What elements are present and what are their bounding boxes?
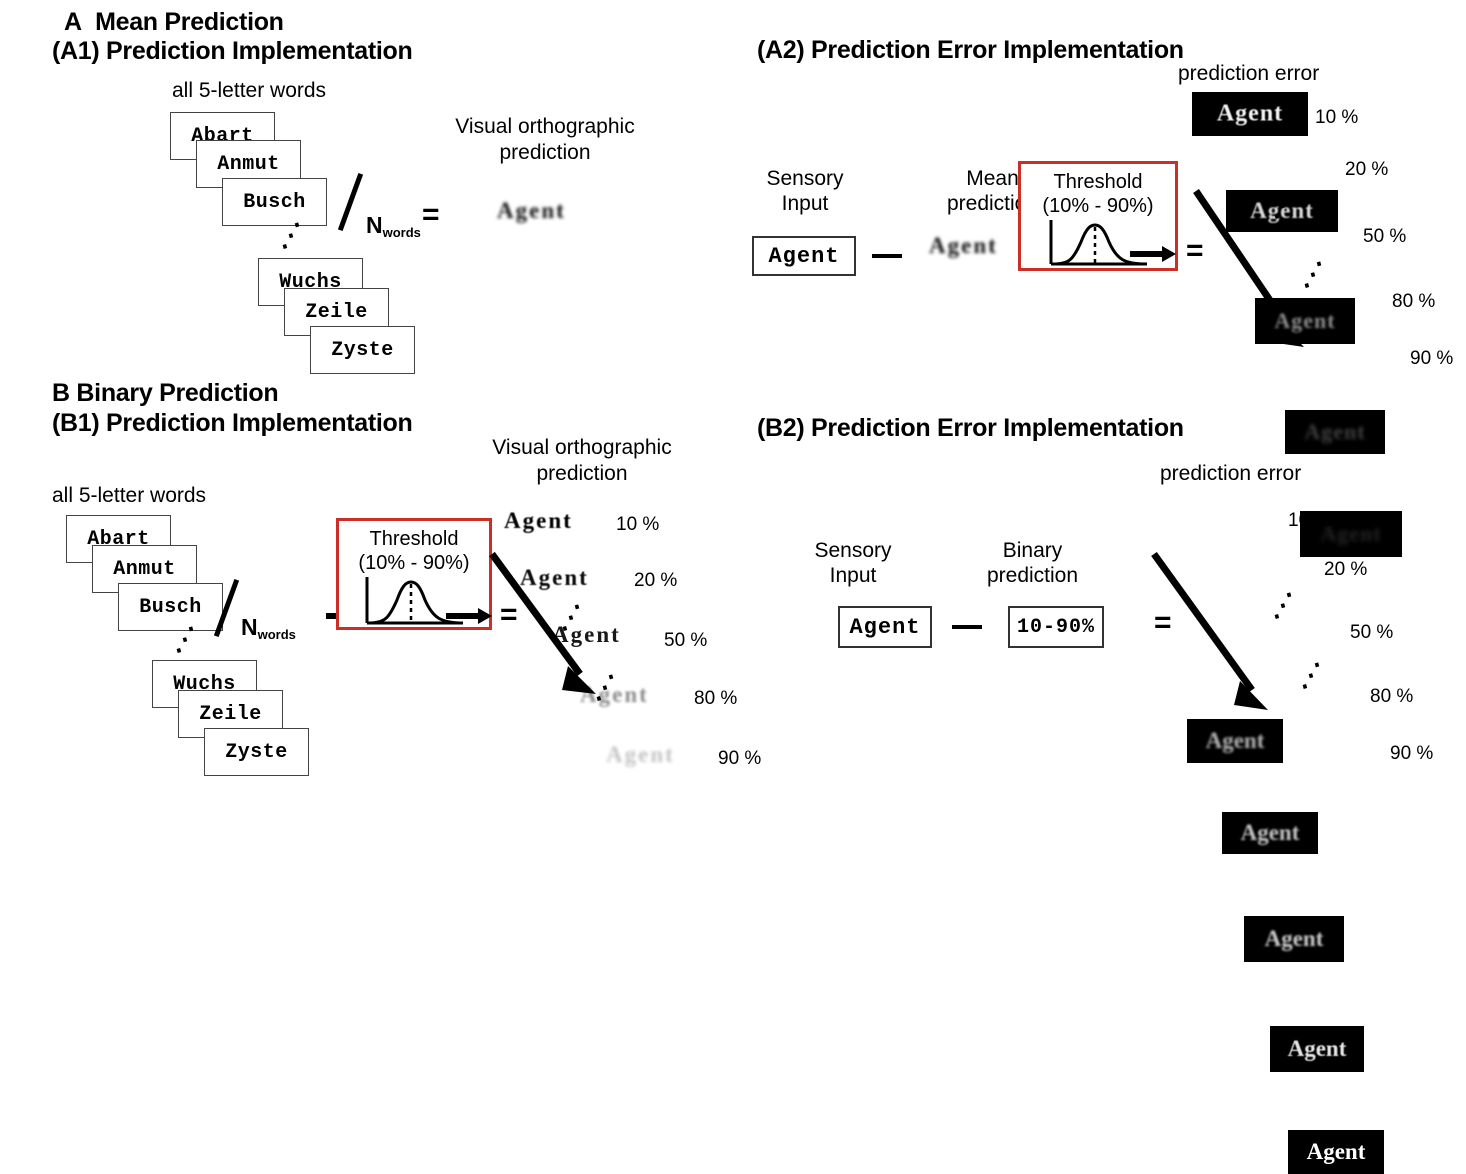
a2-sensory-line1: Sensory xyxy=(740,167,870,191)
a2-error-percent: 90 % xyxy=(1410,348,1453,370)
section-a-heading: A Mean Prediction xyxy=(64,8,284,37)
a2-error-glyph: Agent xyxy=(1274,308,1335,334)
a2-mean-prediction-glyph: Agent xyxy=(929,233,998,259)
b2-error-image: Agent xyxy=(1244,916,1344,962)
section-a-title: Mean Prediction xyxy=(95,8,284,36)
b2-error-image: Agent xyxy=(1288,1130,1384,1174)
n-words-symbol: N xyxy=(366,212,383,238)
minus-operator-icon xyxy=(952,625,982,629)
b1-prediction-glyph: Agent xyxy=(606,742,675,768)
b2-binary-line2: prediction xyxy=(955,564,1110,588)
panel-a2-title: (A2) Prediction Error Implementation xyxy=(757,36,1184,65)
b1-visual-orth-line2: prediction xyxy=(478,462,686,486)
a2-threshold-line2: (10% - 90%) xyxy=(1021,194,1175,218)
b2-error-glyph: Agent xyxy=(1241,820,1300,846)
a2-error-image: Agent xyxy=(1285,410,1385,454)
b1-prediction-glyph: Agent xyxy=(552,622,621,648)
b1-visual-orth-line1: Visual orthographic xyxy=(478,436,686,460)
b2-sensory-line2: Input xyxy=(788,564,918,588)
a2-error-percent: 50 % xyxy=(1363,226,1406,248)
b2-error-percent: 20 % xyxy=(1324,559,1367,581)
vertical-ellipsis: ⋰ xyxy=(1298,264,1325,285)
b2-error-glyph: Agent xyxy=(1307,1139,1366,1165)
b1-prediction-percent: 90 % xyxy=(718,748,761,770)
a1-mean-prediction-glyph: Agent xyxy=(497,198,566,224)
b2-sensory-input-box: Agent xyxy=(838,606,932,648)
b1-prediction-glyph: Agent xyxy=(580,682,649,708)
b1-prediction-glyph: Agent xyxy=(504,508,573,534)
a2-error-percent: 80 % xyxy=(1392,291,1435,313)
a1-visual-orth-line1: Visual orthographic xyxy=(440,115,650,139)
panel-b2-title: (B2) Prediction Error Implementation xyxy=(757,414,1184,443)
b2-error-image: Agent xyxy=(1270,1026,1364,1072)
n-words-symbol: N xyxy=(241,614,258,640)
b1-prediction-glyph: Agent xyxy=(520,565,589,591)
b2-error-percent: 10 % xyxy=(1288,510,1331,532)
b1-prediction-percent: 20 % xyxy=(634,570,677,592)
section-b-heading: B Binary Prediction xyxy=(52,379,278,408)
b2-error-image: Agent xyxy=(1187,719,1283,763)
n-words-denominator: Nwords xyxy=(366,212,421,239)
section-b-title: Binary Prediction xyxy=(76,379,278,407)
word-card: Busch xyxy=(222,178,327,226)
b1-all-words-label: all 5-letter words xyxy=(52,484,206,508)
a1-visual-orth-line2: prediction xyxy=(440,141,650,165)
n-words-denominator: Nwords xyxy=(241,614,296,641)
b2-error-percent: 50 % xyxy=(1350,622,1393,644)
a2-threshold-line1: Threshold xyxy=(1021,164,1175,194)
section-a-letter: A xyxy=(64,8,82,36)
a2-sensory-line2: Input xyxy=(740,192,870,216)
panel-b1-title: (B1) Prediction Implementation xyxy=(52,409,412,438)
word-card: Zyste xyxy=(310,326,415,374)
a2-sensory-input-box: Agent xyxy=(752,236,856,276)
b2-binary-line1: Binary xyxy=(955,539,1110,563)
b2-sensory-line1: Sensory xyxy=(788,539,918,563)
a2-prediction-error-label: prediction error xyxy=(1178,62,1319,86)
b1-prediction-percent: 80 % xyxy=(694,688,737,710)
vertical-ellipsis: ⋰ xyxy=(1268,195,1295,216)
b2-error-glyph: Agent xyxy=(1265,926,1324,952)
word-card: Busch xyxy=(118,583,223,631)
vertical-ellipsis: ⋰ xyxy=(1268,595,1295,616)
b2-prediction-error-label: prediction error xyxy=(1160,462,1301,486)
b2-error-glyph: Agent xyxy=(1288,1036,1347,1062)
b1-prediction-percent: 50 % xyxy=(664,630,707,652)
b1-prediction-percent: 10 % xyxy=(616,514,659,536)
a2-error-image: Agent xyxy=(1192,92,1308,136)
equals-sign: = xyxy=(422,200,440,230)
b2-error-glyph: Agent xyxy=(1206,728,1265,754)
a1-all-words-label: all 5-letter words xyxy=(172,79,326,103)
b2-error-image: Agent xyxy=(1222,812,1318,854)
vertical-ellipsis: ⋰ xyxy=(1296,665,1323,686)
a2-error-glyph: Agent xyxy=(1217,101,1283,128)
word-card: Zyste xyxy=(204,728,309,776)
b2-error-percent: 90 % xyxy=(1390,743,1433,765)
vertical-ellipsis: ⋰ xyxy=(276,225,303,246)
b2-error-percent: 80 % xyxy=(1370,686,1413,708)
b2-diagonal-arrow xyxy=(1148,548,1288,728)
division-slash-icon xyxy=(338,173,363,231)
arrow-out-of-threshold-a2 xyxy=(1130,244,1178,264)
a2-error-glyph: Agent xyxy=(1304,419,1365,445)
n-words-subscript: words xyxy=(258,627,296,642)
section-b-letter: B xyxy=(52,379,70,407)
n-words-subscript: words xyxy=(383,225,421,240)
b1-threshold-line2: (10% - 90%) xyxy=(339,551,489,575)
b1-threshold-line1: Threshold xyxy=(339,521,489,551)
panel-a1-title: (A1) Prediction Implementation xyxy=(52,37,412,66)
b2-binary-prediction-box: 10-90% xyxy=(1008,606,1104,648)
minus-operator-icon xyxy=(872,254,902,258)
vertical-ellipsis: ⋰ xyxy=(170,629,197,650)
a2-error-image: Agent xyxy=(1255,298,1355,344)
a2-error-percent: 10 % xyxy=(1315,107,1358,129)
a2-error-percent: 20 % xyxy=(1345,159,1388,181)
